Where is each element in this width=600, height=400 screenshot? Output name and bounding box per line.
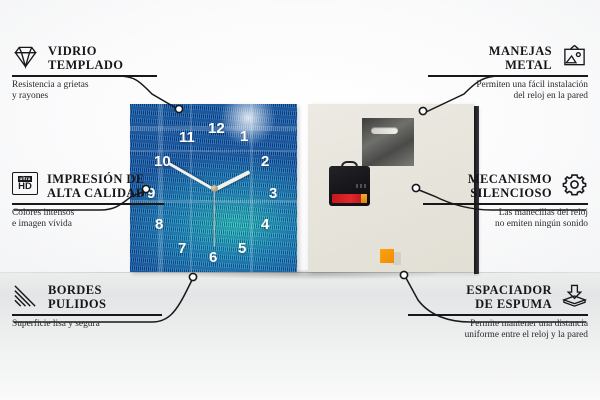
feature-rule — [12, 314, 162, 316]
feature-rule — [423, 203, 588, 205]
feature-description: Permite mantener una distancia uniforme … — [408, 319, 588, 342]
ultra-hd-bottom-text: HD — [18, 182, 32, 192]
down-arrow-onto-pad-icon — [561, 283, 588, 308]
feature-description: Colores intensos e imagen vívida — [12, 208, 164, 231]
feature-title: BORDES PULIDOS — [48, 283, 106, 311]
feature-description: Resistencia a grietas y rayones — [12, 80, 157, 103]
feature-rule — [12, 203, 164, 205]
feature-rule — [12, 75, 157, 77]
feature-vidrio-templado: VIDRIO TEMPLADO Resistencia a grietas y … — [12, 44, 157, 102]
feature-title: MECANISMO SILENCIOSO — [468, 172, 552, 200]
callout-endpoint — [419, 107, 426, 114]
feature-bordes-pulidos: BORDES PULIDOS Superficie lisa y segura — [12, 283, 162, 330]
feature-description: Las manecillas del reloj no emiten ningú… — [423, 208, 588, 231]
feature-title: MANEJAS METAL — [489, 44, 552, 72]
callout-endpoint — [175, 105, 182, 112]
gear-icon — [561, 172, 588, 197]
callout-endpoint — [400, 271, 407, 278]
hanging-picture-frame-icon — [561, 44, 588, 69]
infographic-canvas: 12 1 2 3 4 5 6 7 8 9 10 11 — [0, 0, 600, 400]
feature-description: Permiten una fácil instalación del reloj… — [428, 80, 588, 103]
feature-title: IMPRESIÓN DE ALTA CALIDAD — [47, 172, 145, 200]
feature-espaciador-espuma: ESPACIADOR DE ESPUMA Permite mantener un… — [408, 283, 588, 341]
callout-endpoint — [189, 273, 196, 280]
feature-title: VIDRIO TEMPLADO — [48, 44, 123, 72]
feature-rule — [408, 314, 588, 316]
feature-description: Superficie lisa y segura — [12, 319, 162, 330]
polished-edge-lines-icon — [12, 283, 39, 308]
feature-rule — [428, 75, 588, 77]
diamond-gem-icon — [12, 44, 39, 69]
feature-mecanismo-silencioso: MECANISMO SILENCIOSO Las manecillas del … — [423, 172, 588, 230]
feature-impresion-alta-calidad: ultra HD IMPRESIÓN DE ALTA CALIDAD Color… — [12, 172, 164, 230]
ultra-hd-badge-icon: ultra HD — [12, 172, 38, 195]
feature-title: ESPACIADOR DE ESPUMA — [466, 283, 552, 311]
feature-manejas-metal: MANEJAS METAL Permiten una fácil instala… — [428, 44, 588, 102]
callout-endpoint — [412, 184, 419, 191]
